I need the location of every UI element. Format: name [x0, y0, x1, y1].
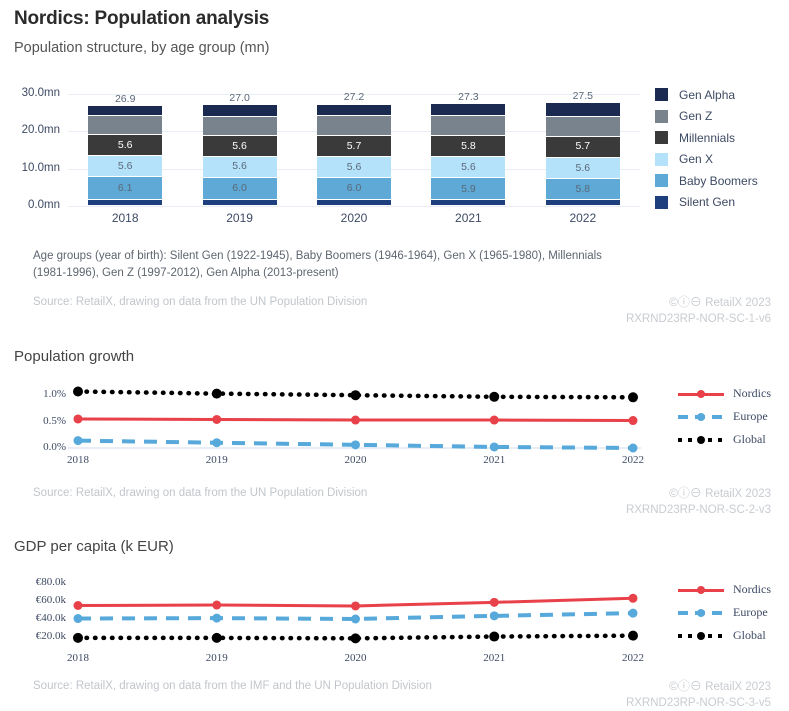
chart1-x-tick-label: 2018: [85, 211, 165, 225]
legend-item-nordics[interactable]: Nordics: [678, 578, 771, 601]
legend-item-global[interactable]: Global: [678, 428, 771, 451]
data-point-europe: [74, 436, 83, 445]
legend-line-icon: [678, 607, 724, 619]
chart2-plot-area: 0.0%0.5%1.0%20182019202020212022: [0, 370, 660, 470]
chart3-source: Source: RetailX, drawing on data from th…: [33, 680, 432, 692]
chart1-legend-item-silent-gen[interactable]: Silent Gen: [655, 192, 758, 214]
chart3-plot-area: €20.0k€40.0k€60.0k€80.0k2018201920202021…: [0, 560, 660, 665]
legend-label: Global: [733, 628, 766, 643]
chart1-segment-gen-x: 5.6: [431, 157, 505, 178]
legend-marker-dot: [697, 586, 705, 594]
data-point-global: [73, 387, 83, 397]
data-point-nordics: [490, 416, 499, 425]
legend-marker-dot: [697, 436, 705, 444]
chart1-segment-silent-gen: [317, 200, 391, 206]
chart1-source: Source: RetailX, drawing on data from th…: [33, 296, 367, 308]
x-tick-label: 2021: [454, 652, 534, 664]
chart1-segment-silent-gen: [88, 200, 162, 206]
x-tick-label: 2022: [593, 652, 673, 664]
chart1-credit-owner: RetailX 2023: [705, 297, 771, 309]
y-tick-label: €60.0k: [0, 594, 66, 606]
chart1-segment-gen-z: [203, 117, 277, 136]
data-point-global: [351, 390, 361, 400]
chart2-legend: NordicsEuropeGlobal: [678, 382, 771, 451]
chart3-credit-code: RXRND23RP-NOR-SC-3-v5: [626, 697, 771, 709]
chart2-credit: ©ⓘ⊖ RetailX 2023 RXRND23RP-NOR-SC-2-v3: [626, 485, 771, 518]
legend-line-icon: [678, 630, 724, 642]
chart1-segment-gen-z: [546, 117, 620, 137]
y-tick-label: €40.0k: [0, 612, 66, 624]
chart1-bar-2021: 5.85.65.9: [431, 104, 505, 206]
data-point-global: [489, 632, 499, 642]
data-point-europe: [351, 440, 360, 449]
data-point-nordics: [351, 601, 360, 610]
chart1-credit-code: RXRND23RP-NOR-SC-1-v6: [626, 313, 771, 325]
legend-item-global[interactable]: Global: [678, 624, 771, 647]
data-point-nordics: [74, 601, 83, 610]
chart1-segment-gen-alpha: [546, 103, 620, 116]
legend-swatch-icon: [655, 110, 668, 123]
chart1-y-tick-label: 30.0mn: [8, 87, 60, 99]
chart1-note: Age groups (year of birth): Silent Gen (…: [33, 248, 633, 281]
chart1-bar-2022: 5.75.65.8: [546, 103, 620, 206]
chart1-y-tick-label: 10.0mn: [8, 162, 60, 174]
legend-line-icon: [678, 434, 724, 446]
chart1-total-label: 27.3: [431, 91, 505, 103]
chart1-segment-millennials: 5.6: [203, 136, 277, 157]
chart1-x-tick-label: 2019: [200, 211, 280, 225]
chart1-segment-baby-boomers: 5.9: [431, 178, 505, 200]
y-tick-label: 1.0%: [0, 388, 66, 400]
x-tick-label: 2019: [177, 454, 257, 466]
chart1-plot-area: 5.65.66.126.95.65.66.027.05.75.66.027.25…: [68, 94, 640, 206]
legend-line-icon: [678, 388, 724, 400]
chart1-legend-label: Baby Boomers: [679, 174, 758, 188]
legend-marker-dot: [697, 413, 705, 421]
chart1-segment-millennials: 5.6: [88, 135, 162, 156]
chart1-segment-baby-boomers: 6.0: [203, 178, 277, 200]
chart1-segment-silent-gen: [546, 200, 620, 206]
chart1-segment-silent-gen: [431, 200, 505, 206]
data-point-europe: [490, 611, 499, 620]
chart1-legend-item-gen-alpha[interactable]: Gen Alpha: [655, 84, 758, 106]
data-point-nordics: [212, 601, 221, 610]
x-tick-label: 2018: [38, 454, 118, 466]
legend-marker-dot: [697, 390, 705, 398]
chart1-legend-label: Millennials: [679, 131, 735, 145]
legend-line-icon: [678, 411, 724, 423]
data-point-europe: [629, 444, 638, 453]
chart1-segment-gen-alpha: [88, 106, 162, 117]
chart1-legend-item-gen-z[interactable]: Gen Z: [655, 106, 758, 128]
chart1-bar-2018: 5.65.66.1: [88, 106, 162, 206]
data-point-global: [351, 633, 361, 643]
data-point-nordics: [490, 598, 499, 607]
chart1-segment-silent-gen: [203, 200, 277, 206]
chart2-title: Population growth: [14, 348, 134, 365]
legend-label: Global: [733, 432, 766, 447]
y-tick-label: €80.0k: [0, 576, 66, 588]
report-page: Nordics: Population analysis Population …: [0, 0, 789, 709]
x-tick-label: 2020: [316, 454, 396, 466]
data-point-nordics: [212, 415, 221, 424]
legend-item-europe[interactable]: Europe: [678, 405, 771, 428]
chart1-segment-gen-z: [317, 116, 391, 135]
chart1-gridline: [68, 206, 640, 207]
chart1-segment-baby-boomers: 6.1: [88, 177, 162, 200]
chart1-x-tick-label: 2022: [543, 211, 623, 225]
chart1-y-tick-label: 20.0mn: [8, 124, 60, 136]
data-point-nordics: [74, 414, 83, 423]
chart1-total-label: 27.0: [203, 92, 277, 104]
chart1-total-label: 27.5: [546, 90, 620, 102]
data-point-nordics: [629, 416, 638, 425]
legend-label: Europe: [733, 409, 768, 424]
data-point-europe: [212, 614, 221, 623]
chart1-x-tick-label: 2021: [428, 211, 508, 225]
creative-commons-icon: ©ⓘ⊖: [669, 295, 702, 309]
chart1-segment-gen-z: [431, 116, 505, 135]
creative-commons-icon: ©ⓘ⊖: [669, 679, 702, 693]
chart2-source: Source: RetailX, drawing on data from th…: [33, 487, 367, 499]
chart1-credit: ©ⓘ⊖ RetailX 2023 RXRND23RP-NOR-SC-1-v6: [626, 294, 771, 327]
data-point-global: [73, 633, 83, 643]
chart1-segment-gen-alpha: [317, 105, 391, 117]
legend-item-europe[interactable]: Europe: [678, 601, 771, 624]
creative-commons-icon: ©ⓘ⊖: [669, 486, 702, 500]
legend-swatch-icon: [655, 153, 668, 166]
y-tick-label: 0.5%: [0, 415, 66, 427]
legend-item-nordics[interactable]: Nordics: [678, 382, 771, 405]
chart1-segment-baby-boomers: 5.8: [546, 179, 620, 201]
chart1-x-tick-label: 2020: [314, 211, 394, 225]
chart2-credit-code: RXRND23RP-NOR-SC-2-v3: [626, 504, 771, 516]
chart3-legend: NordicsEuropeGlobal: [678, 578, 771, 647]
chart1-segment-gen-alpha: [203, 105, 277, 117]
y-tick-label: 0.0%: [0, 441, 66, 453]
legend-swatch-icon: [655, 174, 668, 187]
chart1-segment-millennials: 5.7: [546, 137, 620, 158]
chart2-credit-owner: RetailX 2023: [705, 488, 771, 500]
chart1-legend-item-gen-x[interactable]: Gen X: [655, 149, 758, 171]
data-point-global: [628, 392, 638, 402]
chart1-total-label: 27.2: [317, 91, 391, 103]
x-tick-label: 2020: [316, 652, 396, 664]
data-point-europe: [629, 609, 638, 618]
chart1-segment-millennials: 5.7: [317, 136, 391, 157]
chart1-segment-gen-x: 5.6: [317, 157, 391, 178]
legend-swatch-icon: [655, 131, 668, 144]
chart1-legend-label: Gen Z: [679, 109, 712, 123]
data-point-europe: [212, 438, 221, 447]
chart1-total-label: 26.9: [88, 93, 162, 105]
chart1-legend-item-millennials[interactable]: Millennials: [655, 127, 758, 149]
chart1-segment-gen-x: 5.6: [88, 156, 162, 177]
chart1-bar-2020: 5.75.66.0: [317, 105, 391, 207]
data-point-global: [212, 633, 222, 643]
chart1-segment-baby-boomers: 6.0: [317, 178, 391, 200]
data-point-nordics: [629, 594, 638, 603]
data-point-europe: [74, 614, 83, 623]
legend-label: Nordics: [733, 582, 771, 597]
legend-swatch-icon: [655, 196, 668, 209]
chart1-legend: Gen AlphaGen ZMillennialsGen XBaby Boome…: [655, 84, 758, 213]
chart1-bar-2019: 5.65.66.0: [203, 105, 277, 206]
legend-swatch-icon: [655, 88, 668, 101]
chart3-credit: ©ⓘ⊖ RetailX 2023 RXRND23RP-NOR-SC-3-v5: [626, 678, 771, 711]
x-tick-label: 2019: [177, 652, 257, 664]
x-tick-label: 2021: [454, 454, 534, 466]
chart1-segment-gen-x: 5.6: [203, 157, 277, 178]
x-tick-label: 2022: [593, 454, 673, 466]
data-point-europe: [351, 615, 360, 624]
chart1-segment-gen-x: 5.6: [546, 158, 620, 179]
chart3-title: GDP per capita (k EUR): [14, 538, 174, 555]
y-tick-label: €20.0k: [0, 630, 66, 642]
chart1-subtitle: Population structure, by age group (mn): [14, 40, 270, 56]
legend-label: Europe: [733, 605, 768, 620]
legend-marker-dot: [697, 632, 705, 640]
chart1-legend-label: Silent Gen: [679, 195, 735, 209]
data-point-global: [628, 631, 638, 641]
data-point-global: [489, 392, 499, 402]
data-point-nordics: [351, 416, 360, 425]
chart1-legend-item-baby-boomers[interactable]: Baby Boomers: [655, 170, 758, 192]
chart1-segment-gen-alpha: [431, 104, 505, 116]
chart1-legend-label: Gen Alpha: [679, 88, 735, 102]
legend-label: Nordics: [733, 386, 771, 401]
chart1-segment-gen-z: [88, 116, 162, 135]
legend-line-icon: [678, 584, 724, 596]
legend-marker-dot: [697, 609, 705, 617]
chart1-y-tick-label: 0.0mn: [8, 199, 60, 211]
chart1-legend-label: Gen X: [679, 152, 713, 166]
chart3-credit-owner: RetailX 2023: [705, 681, 771, 693]
data-point-europe: [490, 442, 499, 451]
x-tick-label: 2018: [38, 652, 118, 664]
data-point-global: [212, 389, 222, 399]
chart1-segment-millennials: 5.8: [431, 136, 505, 158]
page-title: Nordics: Population analysis: [14, 8, 269, 30]
